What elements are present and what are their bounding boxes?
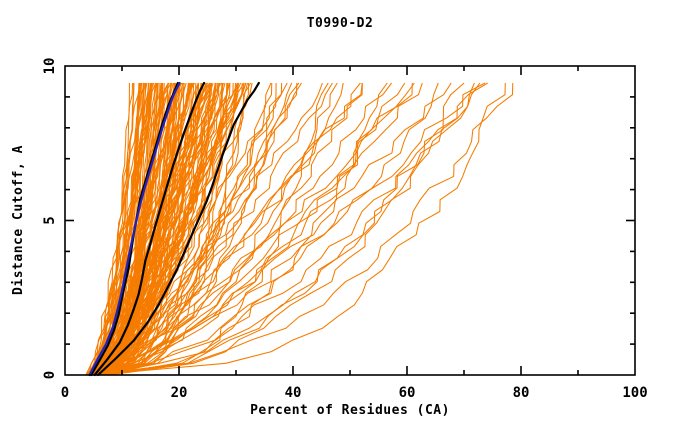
x-tick-label: 100 bbox=[622, 385, 647, 401]
x-tick-label: 80 bbox=[513, 385, 530, 401]
x-axis-title: Percent of Residues (CA) bbox=[250, 403, 450, 418]
y-tick-label: 0 bbox=[42, 371, 58, 379]
x-tick-label: 20 bbox=[171, 385, 188, 401]
y-tick-labels: 0510 bbox=[42, 58, 58, 380]
line-chart: 020406080100 0510 Percent of Residues (C… bbox=[0, 0, 680, 440]
y-tick-label: 10 bbox=[42, 58, 58, 75]
x-tick-labels: 020406080100 bbox=[61, 385, 648, 401]
y-axis-title: Distance Cutoff, A bbox=[11, 145, 26, 295]
y-tick-label: 5 bbox=[42, 216, 58, 224]
x-tick-label: 60 bbox=[399, 385, 416, 401]
x-tick-label: 40 bbox=[285, 385, 302, 401]
chart-page: T0990-D2 020406080100 0510 Percent of Re… bbox=[0, 0, 680, 440]
x-tick-label: 0 bbox=[61, 385, 69, 401]
